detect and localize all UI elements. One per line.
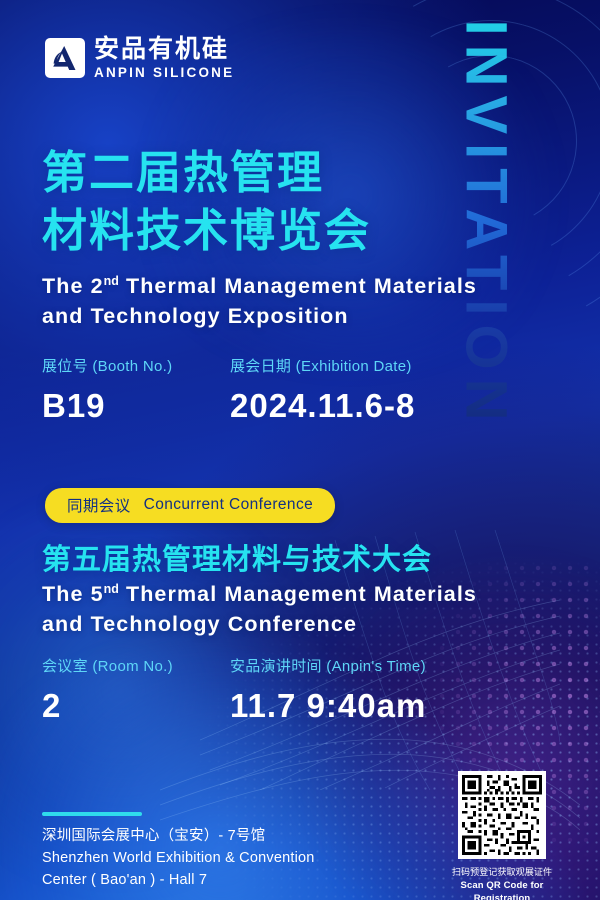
exhibition-title-en-rest: Thermal Management Materials [119,274,477,298]
exhibition-title-en-prefix: The 2 [42,274,104,298]
conference-title-cn: 第五届热管理材料与技术大会 [42,543,432,578]
exhibition-title-cn-line1: 第二届热管理 [42,144,371,202]
concurrent-conference-badge: 同期会议 Concurrent Conference [45,488,335,523]
exhibition-title-cn: 第二届热管理 材料技术博览会 [42,144,371,259]
date-label: 展会日期 (Exhibition Date) [230,358,415,376]
exhibition-details-row: 展位号 (Booth No.) B19 展会日期 (Exhibition Dat… [42,358,415,426]
booth-value: B19 [42,385,230,426]
exhibition-title-en-line1: The 2nd Thermal Management Materials [42,272,477,302]
time-value: 11.7 9:40am [230,685,426,726]
qr-registration-block[interactable]: 扫码预登记获取观展证件 Scan QR Code for Registratio… [447,771,557,900]
invitation-side-word: INVITATION [453,20,520,440]
venue-block: 深圳国际会展中心（宝安）- 7号馆 Shenzhen World Exhibit… [42,826,315,891]
room-field: 会议室 (Room No.) 2 [42,658,230,726]
room-label: 会议室 (Room No.) [42,658,230,676]
badge-label-en: Concurrent Conference [144,496,314,514]
room-value: 2 [42,685,230,726]
footer-divider [42,812,142,816]
booth-field: 展位号 (Booth No.) B19 [42,358,230,426]
time-field: 安品演讲时间 (Anpin's Time) 11.7 9:40am [230,658,426,726]
brand-name-en: ANPIN SILICONE [94,65,234,81]
time-label: 安品演讲时间 (Anpin's Time) [230,658,426,676]
venue-en-line1: Shenzhen World Exhibition & Convention [42,848,315,870]
brand-logo: 安品有机硅 ANPIN SILICONE [45,36,234,81]
exhibition-title-en-line2: and Technology Exposition [42,302,477,332]
date-value: 2024.11.6-8 [230,385,415,426]
conference-title-en-prefix: The 5 [42,582,104,606]
exhibition-title-en: The 2nd Thermal Management Materials and… [42,272,477,331]
venue-cn: 深圳国际会展中心（宝安）- 7号馆 [42,826,315,848]
venue-en-line2: Center ( Bao'an ) - Hall 7 [42,870,315,892]
qr-code-icon[interactable] [458,771,546,859]
exhibition-title-cn-line2: 材料技术博览会 [42,202,371,260]
conference-title-en-line2: and Technology Conference [42,610,477,640]
qr-caption-en: Scan QR Code for Registration [447,879,557,900]
qr-caption-cn: 扫码预登记获取观展证件 [447,866,557,879]
anpin-a-mark-icon [45,38,85,78]
brand-logo-text: 安品有机硅 ANPIN SILICONE [94,36,234,81]
exhibition-title-en-ordinal: nd [104,274,119,288]
date-field: 展会日期 (Exhibition Date) 2024.11.6-8 [230,358,415,426]
conference-title-en: The 5nd Thermal Management Materials and… [42,580,477,639]
conference-details-row: 会议室 (Room No.) 2 安品演讲时间 (Anpin's Time) 1… [42,658,426,726]
conference-title-en-ordinal: nd [104,582,119,596]
conference-title-en-rest: Thermal Management Materials [119,582,477,606]
badge-label-cn: 同期会议 [67,494,131,516]
booth-label: 展位号 (Booth No.) [42,358,230,376]
brand-name-cn: 安品有机硅 [94,36,234,63]
invitation-poster: INVITATION 安品有机硅 ANPIN SILICONE 第二届热管理 材… [0,0,600,900]
conference-title-en-line1: The 5nd Thermal Management Materials [42,580,477,610]
